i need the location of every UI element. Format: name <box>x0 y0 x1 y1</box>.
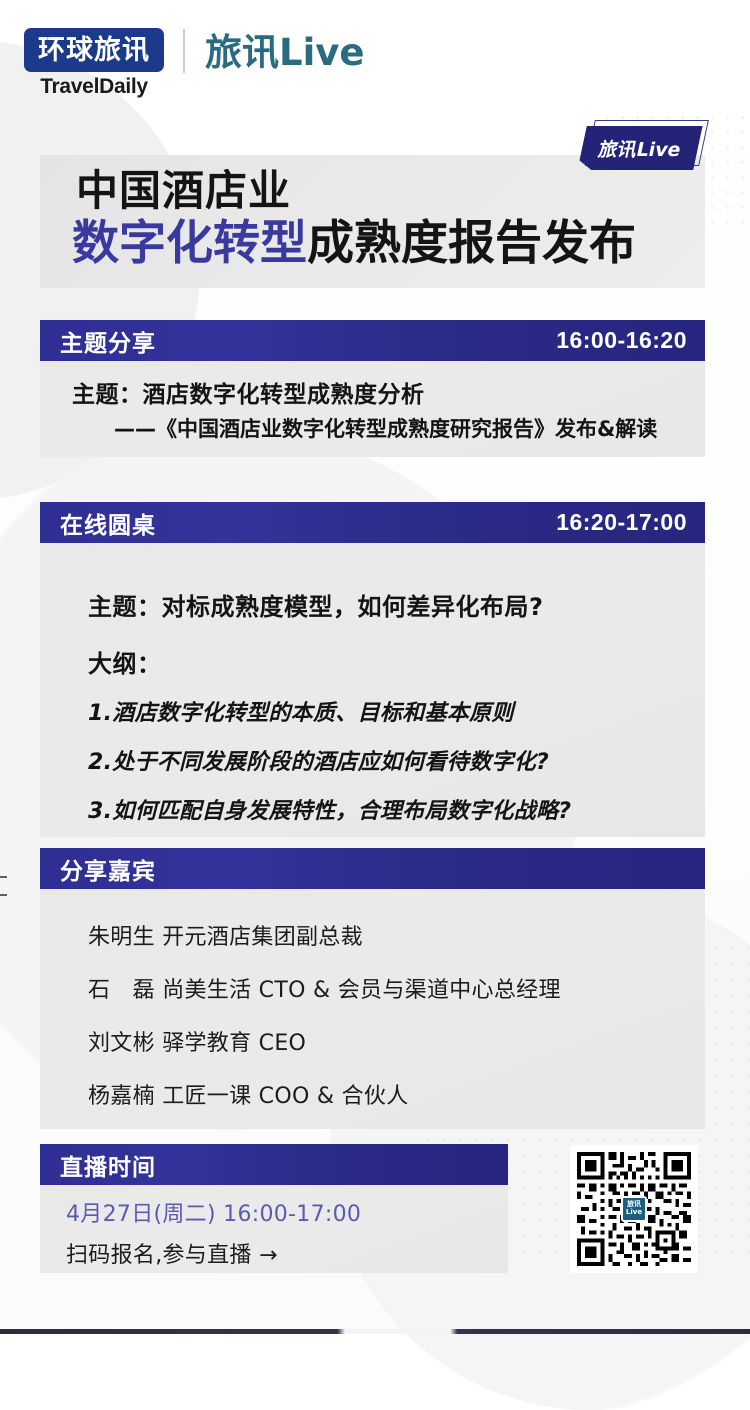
section-keynote-label: 主题分享 <box>60 324 156 358</box>
qr-code-image: 旅讯 Live <box>577 1152 691 1266</box>
section-roundtable-body: 主题：对标成熟度模型，如何差异化布局? 大纲： 1.酒店数字化转型的本质、目标和… <box>40 543 705 837</box>
section-speakers-header: 分享嘉宾 <box>40 848 705 889</box>
section-keynote-time: 16:00-16:20 <box>556 327 687 354</box>
edge-artifact <box>0 868 7 910</box>
list-item: 杨嘉楠 工匠一课 COO & 合伙人 <box>88 1078 705 1110</box>
scan-to-register-cta[interactable]: 扫码报名,参与直播 → <box>66 1237 508 1269</box>
keynote-subtitle: ——《中国酒店业数字化转型成熟度研究报告》发布&解读 <box>114 413 657 443</box>
section-live-time-label: 直播时间 <box>60 1148 156 1182</box>
hero-title-rest: 成熟度报告发布 <box>307 216 636 271</box>
section-keynote: 主题分享 16:00-16:20 主题：酒店数字化转型成熟度分析 ——《中国酒店… <box>40 320 705 457</box>
logo-cn-text: 环球旅讯 <box>38 37 150 64</box>
section-live-time-header: 直播时间 <box>40 1144 508 1185</box>
hero-title-line2: 数字化转型成熟度报告发布 <box>72 217 636 271</box>
qr-logo-line2: Live <box>626 1209 642 1217</box>
section-speakers-body: 朱明生 开元酒店集团副总裁 石 磊 尚美生活 CTO & 会员与渠道中心总经理 … <box>40 889 705 1129</box>
roundtable-outline-label: 大纲： <box>88 644 705 679</box>
list-item: 1.酒店数字化转型的本质、目标和基本原则 <box>88 695 705 727</box>
section-roundtable-header: 在线圆桌 16:20-17:00 <box>40 502 705 543</box>
list-item: 朱明生 开元酒店集团副总裁 <box>88 919 705 951</box>
section-keynote-header: 主题分享 16:00-16:20 <box>40 320 705 361</box>
live-ribbon-badge: 旅讯Live <box>582 124 702 170</box>
header-divider <box>183 29 185 73</box>
section-roundtable-time: 16:20-17:00 <box>556 509 687 536</box>
ribbon-label: 旅讯Live <box>577 126 702 170</box>
section-speakers-label: 分享嘉宾 <box>60 852 156 886</box>
section-speakers: 分享嘉宾 朱明生 开元酒店集团副总裁 石 磊 尚美生活 CTO & 会员与渠道中… <box>40 848 705 1129</box>
keynote-topic: 主题：酒店数字化转型成熟度分析 <box>72 375 425 409</box>
hero-title-line1: 中国酒店业 <box>76 167 291 215</box>
list-item: 刘文彬 驿学教育 CEO <box>88 1025 705 1057</box>
logo-badge: 环球旅讯 <box>24 28 164 72</box>
qr-center-logo: 旅讯 Live <box>621 1196 647 1222</box>
hero-title-accent: 数字化转型 <box>72 216 307 271</box>
bottom-edge-strip <box>0 1329 750 1334</box>
section-keynote-body: 主题：酒店数字化转型成熟度分析 ——《中国酒店业数字化转型成熟度研究报告》发布&… <box>40 361 705 457</box>
brand-header: 环球旅讯 TravelDaily 旅讯Live <box>0 0 750 108</box>
travel-daily-logo[interactable]: 环球旅讯 TravelDaily <box>24 28 164 99</box>
hero-banner: 中国酒店业 数字化转型成熟度报告发布 <box>40 155 705 288</box>
qr-code[interactable]: 旅讯 Live <box>570 1145 698 1273</box>
list-item: 石 磊 尚美生活 CTO & 会员与渠道中心总经理 <box>88 972 705 1004</box>
logo-en-text: TravelDaily <box>24 75 164 99</box>
section-live-time: 直播时间 4月27日(周二) 16:00-17:00 扫码报名,参与直播 → <box>40 1144 508 1273</box>
list-item: 3.如何匹配自身发展特性，合理布局数字化战略? <box>88 793 705 825</box>
section-live-time-body: 4月27日(周二) 16:00-17:00 扫码报名,参与直播 → <box>40 1185 508 1273</box>
brand-live-title: 旅讯Live <box>205 33 364 74</box>
section-roundtable-label: 在线圆桌 <box>60 506 156 540</box>
section-roundtable: 在线圆桌 16:20-17:00 主题：对标成熟度模型，如何差异化布局? 大纲：… <box>40 502 705 837</box>
roundtable-topic: 主题：对标成熟度模型，如何差异化布局? <box>88 587 705 622</box>
list-item: 2.处于不同发展阶段的酒店应如何看待数字化? <box>88 744 705 776</box>
live-date-value: 4月27日(周二) 16:00-17:00 <box>66 1196 508 1228</box>
